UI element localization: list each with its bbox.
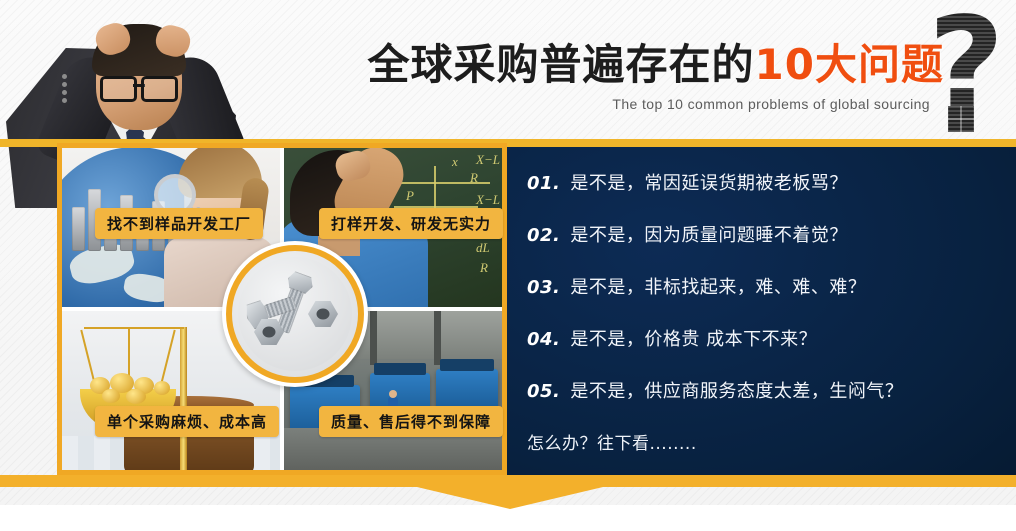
body: 01. 是不是，常因延误货期被老板骂？ 02. 是不是，因为质量问题睡不着觉？ … [0, 147, 1016, 475]
list-item-number: 05. [527, 381, 560, 402]
page-subtitle: The top 10 common problems of global sou… [612, 96, 930, 112]
center-product-badge [222, 241, 368, 387]
list-item: 02. 是不是，因为质量问题睡不着觉？ [527, 221, 1002, 247]
list-item-label: 是不是，因为质量问题睡不着觉？ [570, 221, 848, 247]
list-item-label: 是不是，供应商服务态度太差，生闷气？ [570, 377, 903, 403]
scale-post [180, 327, 187, 470]
collage-tag-purchase-cost: 单个采购麻烦、成本高 [95, 406, 279, 437]
badge-ring [226, 245, 364, 383]
list-item-label: 是不是，常因延误货期被老板骂？ [570, 169, 848, 195]
question-mark-dot [948, 106, 974, 132]
list-item-label: 是不是，价格贵 成本下不来？ [570, 325, 817, 351]
title-prefix: 全球采购普遍存在的 [368, 40, 755, 89]
list-item-number: 01. [527, 173, 560, 194]
footer-down-arrow [0, 487, 1016, 509]
problems-list: 01. 是不是，常因延误货期被老板骂？ 02. 是不是，因为质量问题睡不着觉？ … [527, 169, 1002, 454]
down-arrow-triangle [417, 487, 603, 509]
title-line: 全球采购普遍存在的10大问题 [368, 44, 944, 86]
problems-footer-note: 怎么办？往下看........ [527, 429, 1002, 454]
page-title: 全球采购普遍存在的10大问题 [368, 44, 944, 86]
list-item: 04. 是不是，价格贵 成本下不来？ [527, 325, 1002, 351]
banner-root: 全球采购普遍存在的10大问题 The top 10 common problem… [0, 0, 1016, 531]
list-item-number: 04. [527, 329, 560, 350]
list-item: 01. 是不是，常因延误货期被老板骂？ [527, 169, 1002, 195]
list-item-number: 03. [527, 277, 560, 298]
list-item: 05. 是不是，供应商服务态度太差，生闷气？ [527, 377, 1002, 403]
list-item: 03. 是不是，非标找起来，难、难、难？ [527, 273, 1002, 299]
list-item-number: 02. [527, 225, 560, 246]
collage-tag-quality-service: 质量、售后得不到保障 [319, 406, 503, 437]
collage-tag-rd-capability: 打样开发、研发无实力 [319, 208, 503, 239]
footer-gold-bar [0, 475, 1016, 487]
list-item-label: 是不是，非标找起来，难、难、难？ [570, 273, 866, 299]
header: 全球采购普遍存在的10大问题 The top 10 common problem… [0, 0, 1016, 140]
problems-panel: 01. 是不是，常因延误货期被老板骂？ 02. 是不是，因为质量问题睡不着觉？ … [507, 147, 1016, 475]
title-accent: 10大问题 [755, 40, 944, 89]
factory-worker-head [389, 390, 397, 398]
bolts-photo [238, 257, 352, 371]
image-collage-frame: x R P X−L X−L R dL R [57, 143, 507, 475]
question-mark-icon: ? [928, 14, 1006, 126]
collage-tag-sample-factory: 找不到样品开发工厂 [95, 208, 263, 239]
